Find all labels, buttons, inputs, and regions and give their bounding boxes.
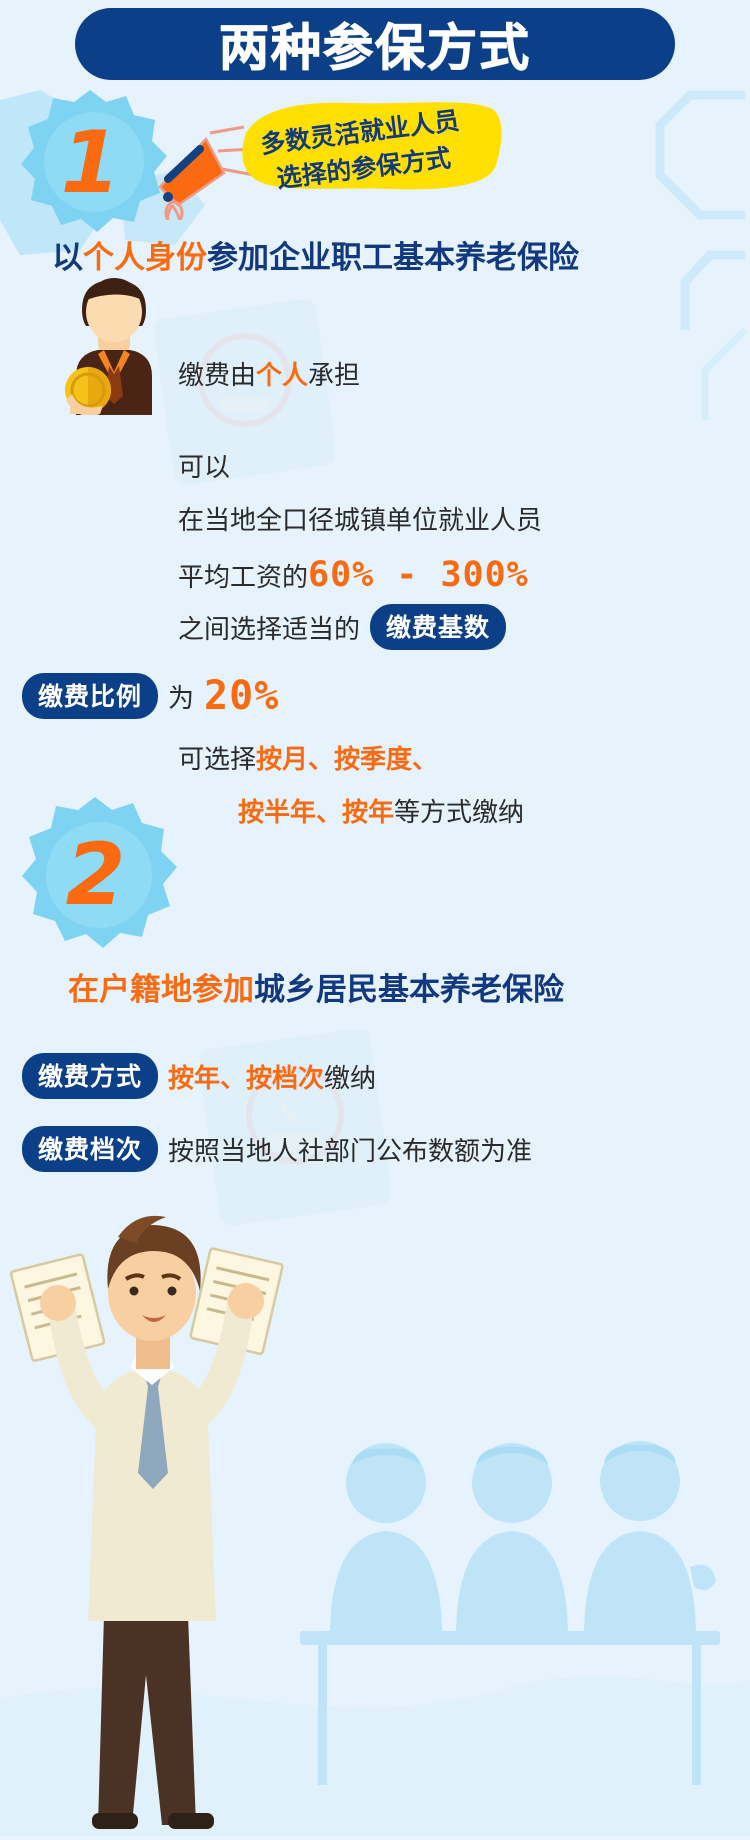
section-2-heading-highlight: 在户籍地参加 — [68, 972, 254, 1008]
presenter-with-papers-icon — [11, 1216, 283, 1829]
frequency-line-1-highlight: 按月、按季度、 — [256, 745, 438, 775]
section-1-heading-post: 参加企业职工基本养老保险 — [207, 240, 579, 276]
contribution-highlight: 个人 — [256, 361, 308, 391]
contribution-post: 承担 — [308, 361, 360, 391]
section-2-gear: 2 — [8, 795, 183, 960]
page-title: 两种参保方式 — [219, 8, 531, 80]
basis-line-4: 之间选择适当的 缴费基数 — [178, 604, 506, 650]
contribution-rate-mid: 为 — [168, 678, 194, 715]
pay-tier-badge: 缴费档次 — [22, 1126, 158, 1172]
frequency-line-2-highlight: 按半年、按年 — [238, 798, 394, 828]
basis-line-3: 平均工资的60% - 300% — [178, 553, 529, 599]
pay-method-row: 缴费方式 按年、按档次缴纳 — [22, 1053, 376, 1099]
businessman-with-coin-icon — [52, 270, 177, 415]
bottom-illustration — [0, 1195, 750, 1835]
page-title-pill: 两种参保方式 — [75, 8, 675, 80]
frequency-line-1: 可选择按月、按季度、 — [178, 744, 438, 778]
basis-line-1: 可以 — [178, 452, 230, 486]
basis-range: 60% - 300% — [308, 555, 529, 595]
section-2-heading-post: 城乡居民基本养老保险 — [254, 972, 564, 1008]
audience-silhouettes-icon — [300, 1441, 720, 1785]
contribution-rate-value: 20% — [204, 673, 279, 719]
contribution-basis-badge: 缴费基数 — [370, 604, 506, 650]
frequency-line-2-post: 等方式缴纳 — [394, 798, 524, 828]
pay-tier-text: 按照当地人社部门公布数额为准 — [168, 1131, 532, 1168]
pay-method-text: 按年、按档次缴纳 — [168, 1058, 376, 1095]
pay-tier-row: 缴费档次 按照当地人社部门公布数额为准 — [22, 1126, 532, 1172]
contribution-line: 缴费由个人承担 — [178, 360, 360, 394]
basis-line-2: 在当地全口径城镇单位就业人员 — [178, 505, 542, 539]
infographic-page: 两种参保方式 1 多数灵活就业人员 选择的参保方式 — [0, 0, 750, 1836]
contribution-pre: 缴费由 — [178, 361, 256, 391]
section-2-heading: 在户籍地参加城乡居民基本养老保险 — [68, 964, 564, 1009]
pay-method-badge: 缴费方式 — [22, 1053, 158, 1099]
businessman-with-coin-svg — [52, 270, 177, 415]
basis-line-3-pre: 平均工资的 — [178, 563, 308, 593]
section-2-number: 2 — [8, 795, 183, 960]
pay-method-post: 缴纳 — [324, 1064, 376, 1094]
contribution-rate-badge: 缴费比例 — [22, 673, 158, 719]
basis-line-4-pre: 之间选择适当的 — [178, 609, 360, 646]
frequency-line-2: 按半年、按年等方式缴纳 — [238, 797, 524, 831]
frequency-line-1-pre: 可选择 — [178, 745, 256, 775]
bottom-illustration-svg — [0, 1195, 750, 1835]
pay-method-highlight: 按年、按档次 — [168, 1064, 324, 1094]
contribution-rate-row: 缴费比例 为 20% — [22, 673, 279, 719]
callout-bubble: 多数灵活就业人员 选择的参保方式 — [240, 95, 505, 197]
